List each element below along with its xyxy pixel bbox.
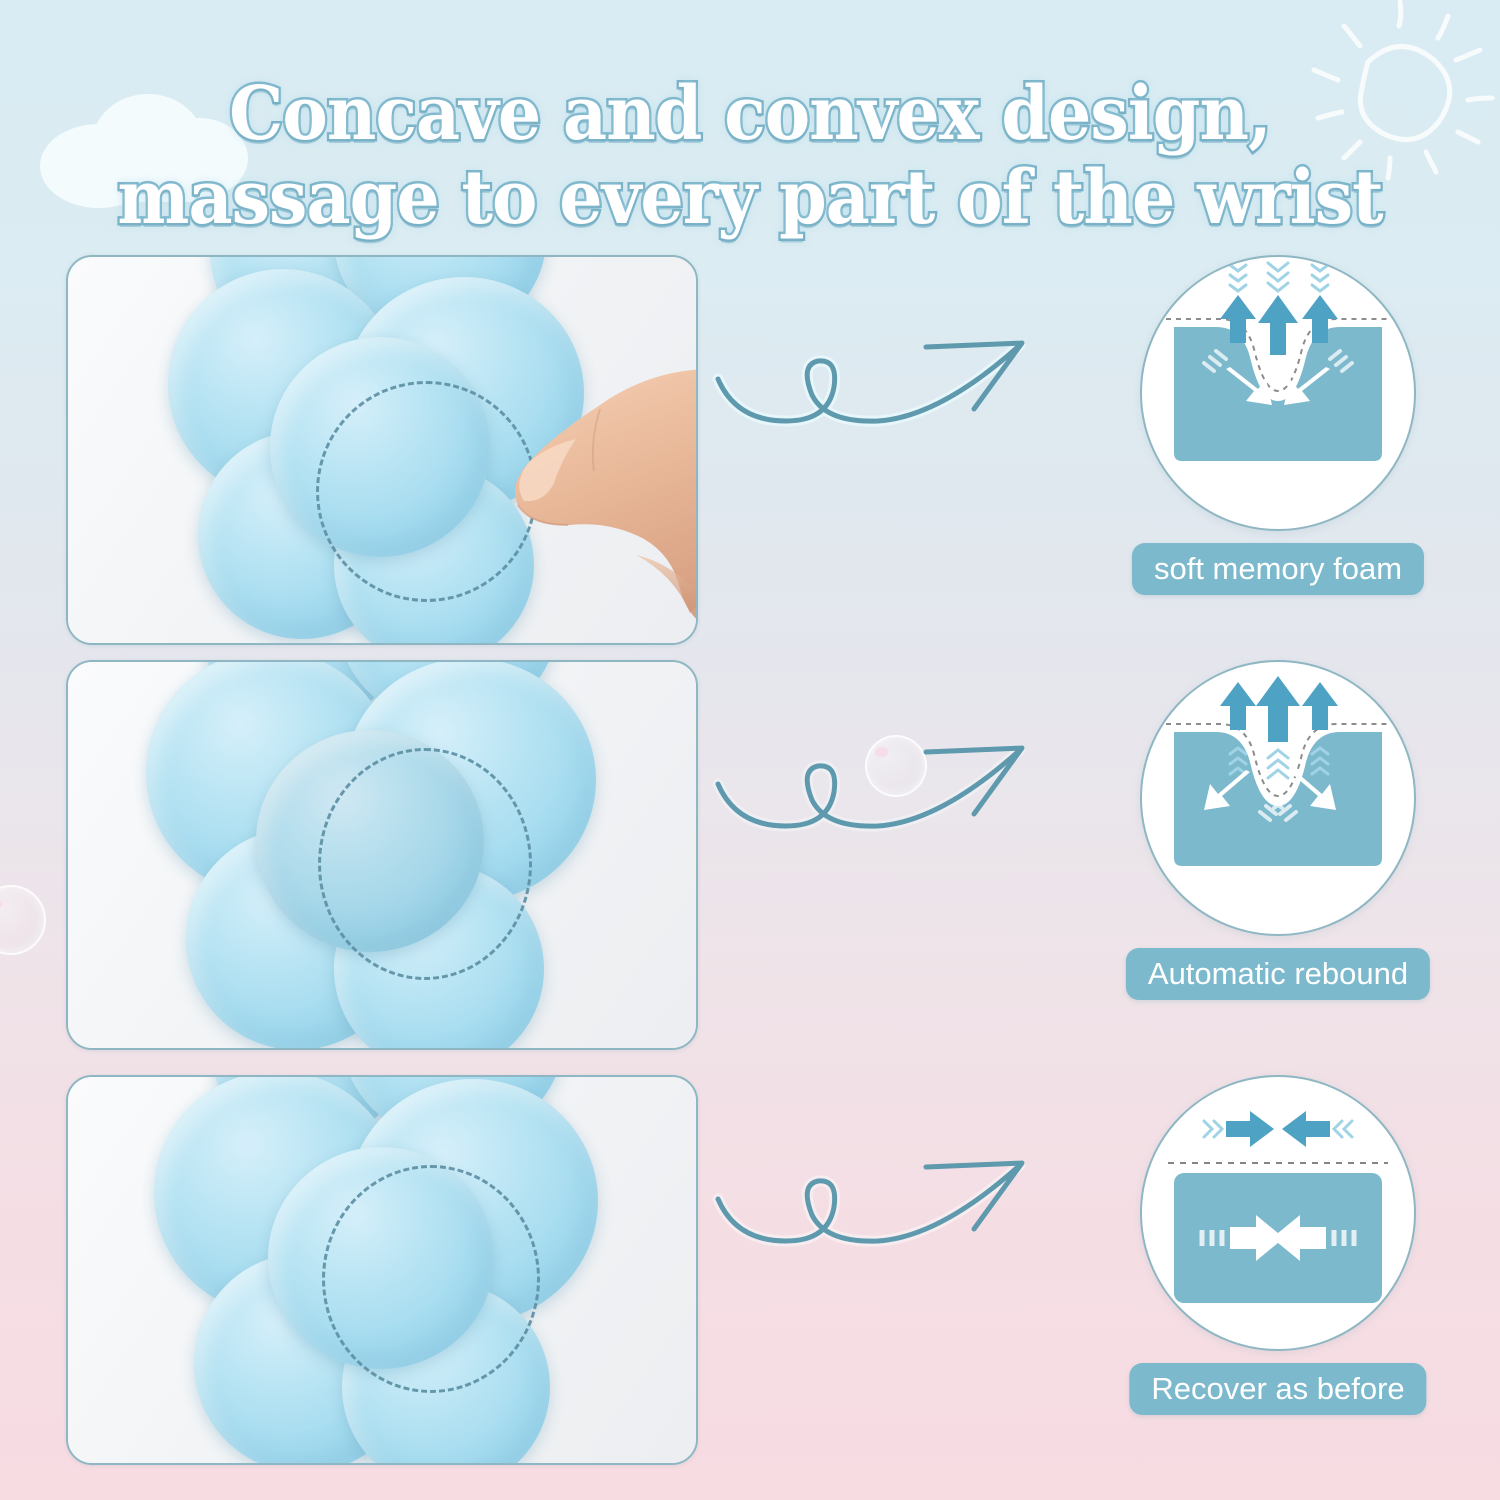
title-line-1: Concave and convex design, [229,71,1271,157]
feature-label-recover-as-before: Recover as before [1129,1363,1426,1415]
product-photo-press [66,255,698,645]
feature-label-automatic-rebound: Automatic rebound [1126,948,1430,1000]
product-photo-rebound [66,660,698,1050]
feature-row-press: soft memory foam [0,255,1500,645]
feature-row-recover: Recover as before [0,1075,1500,1465]
product-photo-recover [66,1075,698,1465]
icon-circle [1140,255,1416,531]
infographic-stage: Concave and convex design,massage to eve… [0,0,1500,1500]
curly-arrow-connector [700,722,1040,852]
feature-icon-soft-memory-foam: soft memory foam [1108,255,1448,645]
curly-arrow-connector [700,1137,1040,1267]
curly-arrow-connector [700,317,1040,447]
title-line-2: massage to every part of the wrist [117,155,1382,241]
feature-label-soft-memory-foam: soft memory foam [1132,543,1424,595]
highlight-dashed-circle [322,1165,540,1393]
feature-icon-automatic-rebound: Automatic rebound [1108,660,1448,1050]
pressing-finger [404,349,698,639]
icon-circle [1140,1075,1416,1351]
page-title: Concave and convex design,massage to eve… [60,72,1440,240]
feature-icon-recover-as-before: Recover as before [1108,1075,1448,1465]
icon-circle [1140,660,1416,936]
highlight-dashed-circle [318,748,532,980]
feature-row-rebound: Automatic rebound [0,660,1500,1050]
